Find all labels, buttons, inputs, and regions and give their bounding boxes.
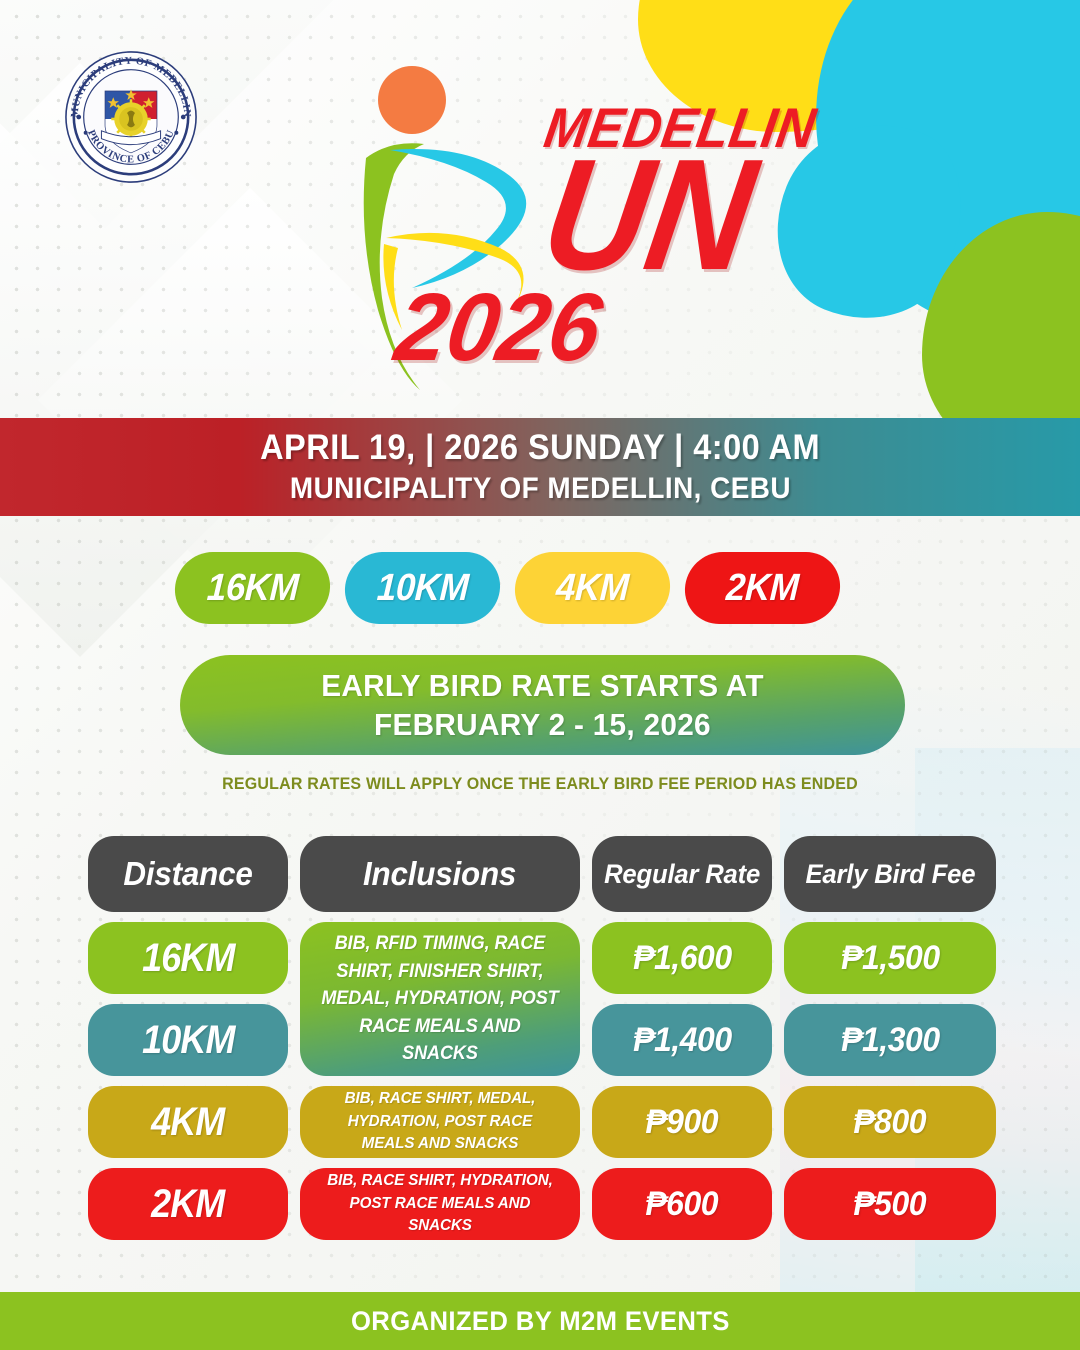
regular-rate-cell: ₱900 xyxy=(592,1086,772,1158)
inclusions-text: BIB, RFID TIMING, RACE SHIRT, FINISHER S… xyxy=(320,930,559,1068)
early-bird-banner: EARLY BIRD RATE STARTS AT FEBRUARY 2 - 1… xyxy=(180,655,905,755)
distance-cell: 2KM xyxy=(88,1168,288,1240)
distance-value: 16KM xyxy=(142,936,234,981)
event-logo: MEDELLIN UN 2026 xyxy=(350,48,780,398)
inclusions-cell: BIB, RACE SHIRT, MEDAL, HYDRATION, POST … xyxy=(300,1086,580,1158)
race-poster: MUNICIPALITY OF MEDELLIN PROVINCE OF CEB… xyxy=(0,0,1080,1350)
organizer-label: ORGANIZED BY M2M EVENTS xyxy=(351,1306,730,1337)
table-row: 10KM xyxy=(88,1004,288,1076)
table-row: ₱1,500 xyxy=(784,922,996,994)
regular-rate-value: ₱900 xyxy=(646,1103,719,1142)
table-row: 2KM BIB, RACE SHIRT, HYDRATION, POST RAC… xyxy=(88,1168,1006,1240)
rate-table: Distance Inclusions Regular Rate Early B… xyxy=(88,836,1006,1250)
distance-value: 4KM xyxy=(151,1100,224,1145)
distance-cell: 4KM xyxy=(88,1086,288,1158)
regular-rate-value: ₱600 xyxy=(646,1185,719,1224)
table-row: ₱1,400 xyxy=(592,1004,772,1076)
regular-rate-cell: ₱600 xyxy=(592,1168,772,1240)
regular-rate-value: ₱1,400 xyxy=(633,1021,731,1060)
table-header-row: Distance Inclusions Regular Rate Early B… xyxy=(88,836,1006,912)
logo-title-year: 2026 xyxy=(390,280,608,376)
table-header-label: Distance xyxy=(123,855,252,893)
event-location: MUNICIPALITY OF MEDELLIN, CEBU xyxy=(289,472,790,506)
early-bird-disclaimer: REGULAR RATES WILL APPLY ONCE THE EARLY … xyxy=(16,775,1064,794)
early-bird-value: ₱1,500 xyxy=(841,939,939,978)
organizer-footer: ORGANIZED BY M2M EVENTS xyxy=(0,1292,1080,1350)
inclusions-cell-long: BIB, RFID TIMING, RACE SHIRT, FINISHER S… xyxy=(300,922,580,1076)
early-bird-cell: ₱500 xyxy=(784,1168,996,1240)
early-bird-dates: FEBRUARY 2 - 15, 2026 xyxy=(374,707,711,743)
distance-value: 10KM xyxy=(142,1018,234,1063)
distance-pill-label: 4KM xyxy=(555,567,630,610)
table-row: ₱1,300 xyxy=(784,1004,996,1076)
early-bird-value: ₱1,300 xyxy=(841,1021,939,1060)
early-bird-cell: ₱800 xyxy=(784,1086,996,1158)
inclusions-text: BIB, RACE SHIRT, HYDRATION, POST RACE ME… xyxy=(320,1170,559,1237)
table-row: 4KM BIB, RACE SHIRT, MEDAL, HYDRATION, P… xyxy=(88,1086,1006,1158)
distance-pill-label: 16KM xyxy=(206,567,300,610)
early-bird-value: ₱500 xyxy=(854,1185,927,1224)
early-bird-value: ₱800 xyxy=(854,1103,927,1142)
table-header-early-bird-fee: Early Bird Fee xyxy=(784,836,996,912)
event-date-banner: APRIL 19, | 2026 SUNDAY | 4:00 AM MUNICI… xyxy=(0,418,1080,516)
inclusions-text: BIB, RACE SHIRT, MEDAL, HYDRATION, POST … xyxy=(320,1088,559,1155)
logo-title-run: UN xyxy=(534,136,764,294)
table-row: 16KM xyxy=(88,922,288,994)
table-header-regular-rate: Regular Rate xyxy=(592,836,772,912)
table-header-label: Regular Rate xyxy=(604,859,760,890)
distance-pill-16km[interactable]: 16KM xyxy=(173,552,332,624)
distance-category-list: 16KM 10KM 4KM 2KM xyxy=(175,552,840,624)
event-date-time: APRIL 19, | 2026 SUNDAY | 4:00 AM xyxy=(260,428,820,468)
table-header-label: Inclusions xyxy=(363,855,516,893)
distance-pill-2km[interactable]: 2KM xyxy=(683,552,842,624)
table-row: ₱1,600 xyxy=(592,922,772,994)
distance-pill-10km[interactable]: 10KM xyxy=(343,552,502,624)
distance-pill-label: 10KM xyxy=(376,567,470,610)
early-bird-headline: EARLY BIRD RATE STARTS AT xyxy=(321,668,764,704)
distance-value: 2KM xyxy=(151,1182,224,1227)
table-header-distance: Distance xyxy=(88,836,288,912)
table-header-inclusions: Inclusions xyxy=(300,836,580,912)
table-header-label: Early Bird Fee xyxy=(805,859,975,890)
table-row-group-long: 16KM 10KM BIB, RFID TIMING, RACE SHIRT, … xyxy=(88,922,1006,1076)
municipal-seal-icon: MUNICIPALITY OF MEDELLIN PROVINCE OF CEB… xyxy=(62,48,200,186)
inclusions-cell: BIB, RACE SHIRT, HYDRATION, POST RACE ME… xyxy=(300,1168,580,1240)
distance-pill-label: 2KM xyxy=(725,567,800,610)
distance-pill-4km[interactable]: 4KM xyxy=(513,552,672,624)
regular-rate-value: ₱1,600 xyxy=(633,939,731,978)
